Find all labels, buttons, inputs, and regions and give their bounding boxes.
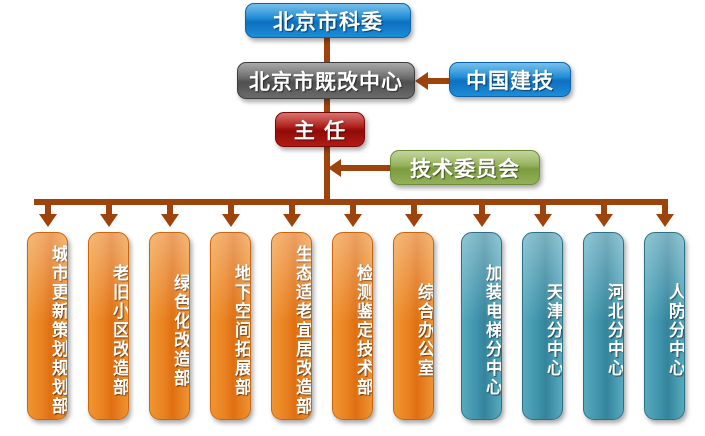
arrow-down-dept-7-icon: [405, 214, 423, 227]
arrow-down-dept-2-icon: [100, 214, 118, 227]
node-department-5[interactable]: 生态适老宜居改造部: [271, 232, 312, 420]
arrow-down-dept-9-icon: [534, 214, 552, 227]
node-center-label: 北京市既改中心: [249, 66, 403, 96]
arrow-left-partner-icon: [415, 72, 428, 90]
arrow-down-dept-4-icon: [222, 214, 240, 227]
org-chart: 北京市科委 北京市既改中心 中国建技 主 任 技术委员会 城市更新策划规划部老旧…: [0, 0, 705, 436]
node-department-4-label: 地下空间拓展部: [232, 264, 250, 397]
node-department-10[interactable]: 河北分中心: [583, 232, 624, 420]
node-top-authority-label: 北京市科委: [273, 6, 383, 36]
node-department-9[interactable]: 天津分中心: [522, 232, 563, 420]
node-department-4[interactable]: 地下空间拓展部: [210, 232, 251, 420]
arrow-down-dept-5-icon: [283, 214, 301, 227]
node-director[interactable]: 主 任: [275, 112, 365, 147]
node-committee-label: 技术委员会: [410, 153, 520, 183]
node-department-11[interactable]: 人防分中心: [644, 232, 685, 420]
arrow-down-dept-11-icon: [656, 214, 674, 227]
node-director-label: 主 任: [294, 115, 346, 145]
connector-authority-to-center: [324, 36, 330, 64]
connector-bus-to-dept-3: [167, 199, 173, 214]
node-department-8[interactable]: 加装电梯分中心: [461, 232, 502, 420]
node-department-6[interactable]: 检测鉴定技术部: [332, 232, 373, 420]
connector-bus-to-dept-1: [45, 199, 51, 214]
connector-bus-to-dept-10: [601, 199, 607, 214]
node-committee[interactable]: 技术委员会: [390, 150, 540, 185]
arrow-down-dept-8-icon: [473, 214, 491, 227]
arrow-down-dept-6-icon: [344, 214, 362, 227]
node-department-7-label: 综合办公室: [415, 283, 433, 378]
connector-bus-to-dept-9: [540, 199, 546, 214]
node-department-8-label: 加装电梯分中心: [483, 264, 501, 397]
node-center[interactable]: 北京市既改中心: [237, 62, 415, 99]
node-department-10-label: 河北分中心: [605, 283, 623, 378]
node-top-authority[interactable]: 北京市科委: [245, 3, 411, 38]
connector-bus-to-dept-7: [411, 199, 417, 214]
node-department-7[interactable]: 综合办公室: [393, 232, 434, 420]
node-department-11-label: 人防分中心: [666, 283, 684, 378]
connector-bus-to-dept-6: [350, 199, 356, 214]
connector-bus-to-dept-11: [662, 199, 668, 214]
node-department-3-label: 绿色化改造部: [171, 274, 189, 388]
node-department-1[interactable]: 城市更新策划规划部: [27, 232, 68, 420]
node-department-9-label: 天津分中心: [544, 283, 562, 378]
node-partner[interactable]: 中国建技: [449, 62, 571, 97]
arrow-left-committee-icon: [328, 159, 341, 177]
connector-bus-to-dept-4: [228, 199, 234, 214]
connector-bus-to-dept-5: [289, 199, 295, 214]
connector-bus-to-dept-2: [106, 199, 112, 214]
node-department-2-label: 老旧小区改造部: [110, 264, 128, 397]
node-department-3[interactable]: 绿色化改造部: [149, 232, 190, 420]
node-department-5-label: 生态适老宜居改造部: [293, 245, 311, 416]
connector-bus-to-dept-8: [479, 199, 485, 214]
arrow-down-dept-3-icon: [161, 214, 179, 227]
node-department-1-label: 城市更新策划规划部: [49, 245, 67, 416]
node-department-6-label: 检测鉴定技术部: [354, 264, 372, 397]
connector-committee-to-trunk: [340, 165, 392, 171]
arrow-down-dept-1-icon: [39, 214, 57, 227]
arrow-down-dept-10-icon: [595, 214, 613, 227]
node-department-2[interactable]: 老旧小区改造部: [88, 232, 129, 420]
node-partner-label: 中国建技: [466, 65, 554, 95]
